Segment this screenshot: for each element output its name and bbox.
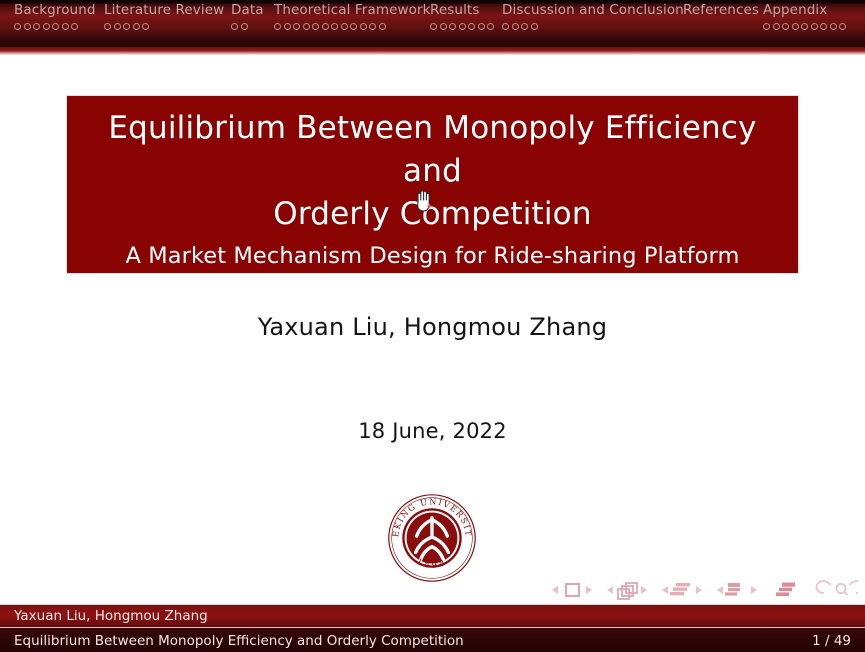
nav-slide-dot[interactable] <box>468 23 475 30</box>
nav-slide-dot[interactable] <box>512 23 519 30</box>
nav-slide-dot[interactable] <box>839 23 846 30</box>
frame-next-icon <box>641 586 647 594</box>
nav-section-background[interactable]: Background <box>14 2 96 31</box>
nav-slide-dot[interactable] <box>341 23 348 30</box>
nav-section-label: Literature Review <box>104 2 224 19</box>
nav-slide-dot[interactable] <box>350 23 357 30</box>
footer: Yaxuan Liu, Hongmou Zhang Equilibrium Be… <box>0 604 865 652</box>
nav-section-data[interactable]: Data <box>231 2 264 31</box>
nav-slide-dot[interactable] <box>379 23 386 30</box>
nav-slide-dot[interactable] <box>487 23 494 30</box>
nav-slide-dot[interactable] <box>478 23 485 30</box>
nav-slide-dot[interactable] <box>231 23 238 30</box>
nav-section-appendix[interactable]: Appendix <box>763 2 849 31</box>
nav-slide-dot[interactable] <box>303 23 310 30</box>
subtitle-line-1: A Market Mechanism Design for Ride-shari… <box>125 243 739 269</box>
frame-prev-icon <box>607 586 613 594</box>
nav-section-label: References <box>683 2 759 19</box>
nav-slide-dot[interactable] <box>123 23 130 30</box>
find-handle-icon <box>844 592 848 596</box>
nav-slide-dot[interactable] <box>133 23 140 30</box>
nav-slide-dot[interactable] <box>782 23 789 30</box>
nav-section-slide-dots[interactable] <box>14 20 96 31</box>
nav-section-label: Results <box>430 2 497 19</box>
nav-section-literature-review[interactable]: Literature Review <box>104 2 224 31</box>
nav-slide-dot[interactable] <box>811 23 818 30</box>
nav-slide-dot[interactable] <box>104 23 111 30</box>
nav-slide-dot[interactable] <box>521 23 528 30</box>
nav-slide-dot[interactable] <box>52 23 59 30</box>
back-icon <box>816 581 830 593</box>
title-line-2: Orderly Competition <box>273 196 591 232</box>
frame-icon <box>618 583 637 599</box>
beamer-slide: BackgroundLiterature ReviewDataTheoretic… <box>0 0 865 652</box>
nav-slide-dot[interactable] <box>322 23 329 30</box>
nav-section-label: Background <box>14 2 96 19</box>
nav-slide-dot[interactable] <box>312 23 319 30</box>
nav-slide-dot[interactable] <box>763 23 770 30</box>
nav-slide-dot[interactable] <box>459 23 466 30</box>
nav-section-slide-dots[interactable] <box>502 20 684 31</box>
nav-section-label: Discussion and Conclusion <box>502 2 684 19</box>
nav-slide-dot[interactable] <box>792 23 799 30</box>
peking-university-logo-icon: PEKING UNIVERSITY 1898 <box>384 490 480 586</box>
nav-slide-dot[interactable] <box>502 23 509 30</box>
subtitle-line-2: Governance <box>364 284 501 310</box>
nav-slide-dot[interactable] <box>62 23 69 30</box>
slide-icon <box>566 584 579 596</box>
subsection-icon <box>670 583 690 595</box>
title-block: Equilibrium Between Monopoly Efficiency … <box>66 95 799 274</box>
nav-slide-dot[interactable] <box>241 23 248 30</box>
document-icon <box>776 583 795 597</box>
presentation-title: Equilibrium Between Monopoly Efficiency … <box>67 107 798 236</box>
nav-slide-dot[interactable] <box>440 23 447 30</box>
nav-slide-dot[interactable] <box>114 23 121 30</box>
footer-author-band: Yaxuan Liu, Hongmou Zhang <box>0 604 865 628</box>
nav-section-references[interactable]: References <box>683 2 759 20</box>
nav-slide-dot[interactable] <box>449 23 456 30</box>
slide-next-icon <box>586 586 592 594</box>
navigation-bar: BackgroundLiterature ReviewDataTheoretic… <box>0 0 865 47</box>
nav-section-slide-dots[interactable] <box>231 20 264 31</box>
navbar-sections: BackgroundLiterature ReviewDataTheoretic… <box>0 0 865 47</box>
nav-slide-dot[interactable] <box>142 23 149 30</box>
nav-section-slide-dots[interactable] <box>274 20 431 31</box>
nav-slide-dot[interactable] <box>293 23 300 30</box>
section-icon <box>725 583 740 596</box>
nav-slide-dot[interactable] <box>24 23 31 30</box>
nav-section-slide-dots[interactable] <box>763 20 849 31</box>
nav-section-results[interactable]: Results <box>430 2 497 31</box>
nav-slide-dot[interactable] <box>331 23 338 30</box>
nav-section-slide-dots[interactable] <box>104 20 224 31</box>
nav-slide-dot[interactable] <box>820 23 827 30</box>
beamer-navigation-symbols[interactable] <box>548 580 858 600</box>
authors: Yaxuan Liu, Hongmou Zhang <box>0 313 865 341</box>
nav-section-label: Theoretical Framework <box>274 2 431 19</box>
nav-section-slide-dots[interactable] <box>430 20 497 31</box>
nav-slide-dot[interactable] <box>531 23 538 30</box>
title-line-1: Equilibrium Between Monopoly Efficiency … <box>108 110 756 189</box>
nav-slide-dot[interactable] <box>773 23 780 30</box>
section-prev-icon <box>717 586 723 594</box>
nav-slide-dot[interactable] <box>369 23 376 30</box>
nav-slide-dot[interactable] <box>14 23 21 30</box>
forward-icon <box>850 581 858 593</box>
presentation-date: 18 June, 2022 <box>0 419 865 443</box>
nav-slide-dot[interactable] <box>801 23 808 30</box>
footer-title: Equilibrium Between Monopoly Efficiency … <box>14 629 464 652</box>
section-next-icon <box>751 586 757 594</box>
nav-section-label: Appendix <box>763 2 849 19</box>
presentation-subtitle: A Market Mechanism Design for Ride-shari… <box>67 236 798 318</box>
nav-slide-dot[interactable] <box>71 23 78 30</box>
subsection-next-icon <box>696 586 702 594</box>
nav-slide-dot[interactable] <box>274 23 281 30</box>
page-indicator: 1 / 49 <box>812 629 851 652</box>
navbar-shadow <box>0 47 865 55</box>
nav-slide-dot[interactable] <box>284 23 291 30</box>
nav-section-label: Data <box>231 2 264 19</box>
nav-section-theoretical-framework[interactable]: Theoretical Framework <box>274 2 431 31</box>
slide-prev-icon <box>552 586 558 594</box>
footer-author: Yaxuan Liu, Hongmou Zhang <box>14 605 208 628</box>
nav-slide-dot[interactable] <box>430 23 437 30</box>
nav-section-discussion-and-conclusion[interactable]: Discussion and Conclusion <box>502 2 684 31</box>
footer-title-band: Equilibrium Between Monopoly Efficiency … <box>0 627 865 652</box>
nav-slide-dot[interactable] <box>360 23 367 30</box>
nav-slide-dot[interactable] <box>33 23 40 30</box>
nav-slide-dot[interactable] <box>830 23 837 30</box>
nav-slide-dot[interactable] <box>43 23 50 30</box>
subsection-prev-icon <box>662 586 668 594</box>
